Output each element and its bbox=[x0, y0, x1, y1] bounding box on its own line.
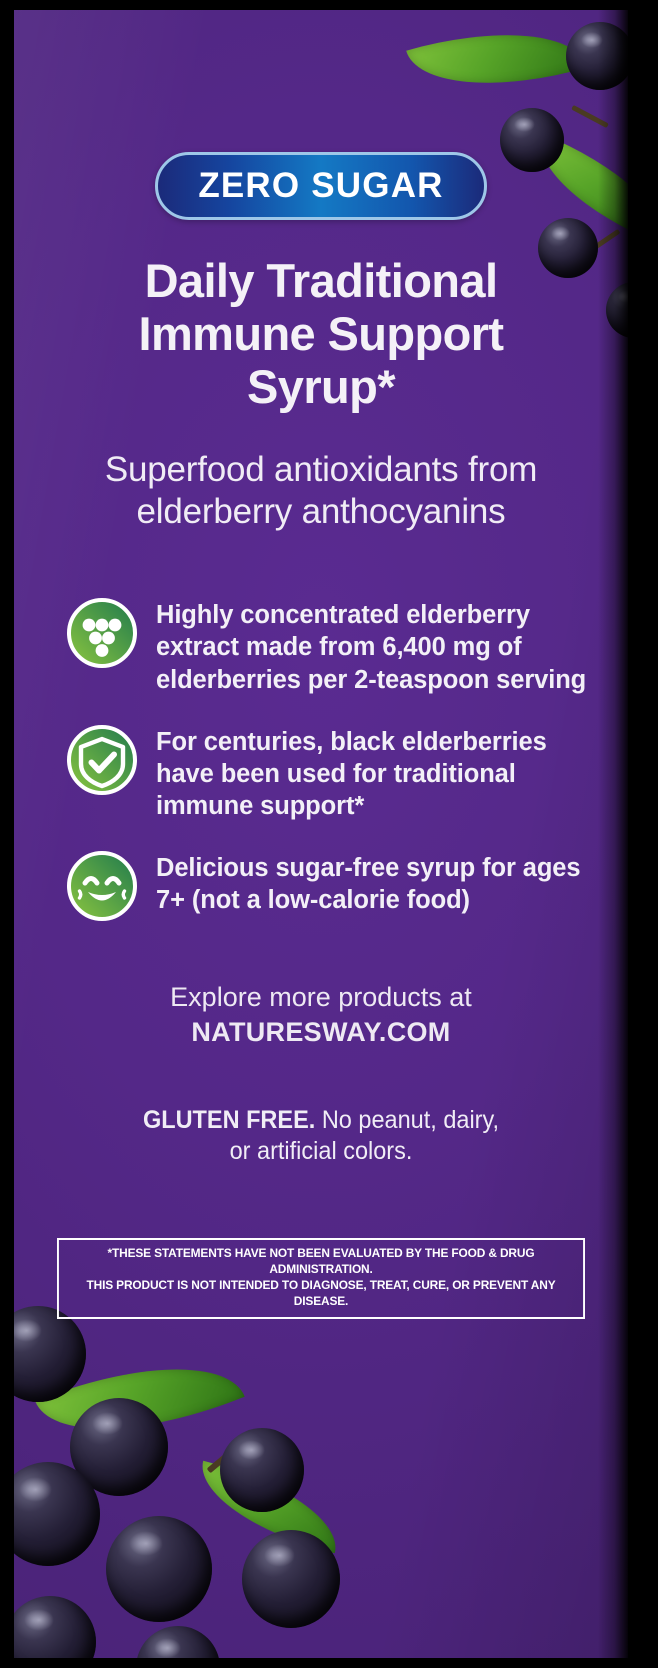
fda-disclaimer-box: *THESE STATEMENTS HAVE NOT BEEN EVALUATE… bbox=[57, 1238, 585, 1319]
package-front-panel: ZERO SUGAR Daily Traditional Immune Supp… bbox=[14, 10, 628, 1658]
allergen-rest: No peanut, dairy, bbox=[315, 1106, 499, 1134]
allergen-statement: GLUTEN FREE. No peanut, dairy, or artifi… bbox=[57, 1105, 585, 1168]
leaf-icon bbox=[189, 1461, 349, 1554]
disclaimer-line-2: THIS PRODUCT IS NOT INTENDED TO DIAGNOSE… bbox=[87, 1278, 556, 1308]
disclaimer-line-1: *THESE STATEMENTS HAVE NOT BEEN EVALUATE… bbox=[108, 1246, 535, 1276]
stem-icon bbox=[571, 105, 609, 128]
benefit-item: For centuries, black elderberries have b… bbox=[66, 722, 602, 822]
zero-sugar-badge: ZERO SUGAR bbox=[155, 152, 486, 220]
benefit-text: Highly concentrated elderberry extract m… bbox=[156, 595, 602, 695]
leaf-icon bbox=[406, 10, 588, 114]
berry-icon bbox=[566, 22, 628, 90]
berry-icon bbox=[14, 1462, 100, 1566]
smiley-face-icon bbox=[66, 850, 138, 922]
product-title-line-3: Syrup* bbox=[247, 360, 395, 413]
product-subtitle-line-2: elderberry anthocyanins bbox=[137, 492, 506, 531]
stem-icon bbox=[207, 1433, 254, 1474]
gluten-free-highlight: GLUTEN FREE. bbox=[143, 1106, 315, 1134]
benefits-list: Highly concentrated elderberry extract m… bbox=[40, 595, 602, 922]
explore-prompt: Explore more products at bbox=[170, 982, 472, 1012]
package-content: ZERO SUGAR Daily Traditional Immune Supp… bbox=[14, 152, 628, 1168]
benefit-text: For centuries, black elderberries have b… bbox=[156, 722, 602, 822]
zero-sugar-badge-wrap: ZERO SUGAR bbox=[40, 152, 602, 220]
benefit-item: Delicious sugar-free syrup for ages 7+ (… bbox=[66, 848, 602, 922]
product-package: ZERO SUGAR Daily Traditional Immune Supp… bbox=[0, 0, 658, 1668]
product-title-line-1: Daily Traditional bbox=[145, 254, 498, 307]
berry-icon bbox=[136, 1626, 220, 1658]
product-title-line-2: Immune Support bbox=[139, 307, 504, 360]
product-subtitle: Superfood antioxidants from elderberry a… bbox=[40, 449, 602, 533]
berry-icon bbox=[14, 1306, 86, 1402]
berry-icon bbox=[242, 1530, 340, 1628]
allergen-line-2: or artificial colors. bbox=[230, 1137, 413, 1165]
product-title: Daily Traditional Immune Support Syrup* bbox=[40, 254, 602, 413]
berry-icon bbox=[70, 1398, 168, 1496]
berry-icon bbox=[106, 1516, 212, 1622]
berry-icon bbox=[220, 1428, 304, 1512]
stem-icon bbox=[123, 1417, 156, 1473]
berry-cluster-icon bbox=[66, 597, 138, 669]
product-subtitle-line-1: Superfood antioxidants from bbox=[105, 450, 537, 489]
shield-check-icon bbox=[66, 724, 138, 796]
benefit-text: Delicious sugar-free syrup for ages 7+ (… bbox=[156, 848, 602, 916]
leaf-icon bbox=[35, 1328, 244, 1470]
website-link[interactable]: NATURESWAY.COM bbox=[40, 1015, 602, 1050]
berry-icon bbox=[14, 1596, 96, 1658]
explore-more-block: Explore more products at NATURESWAY.COM bbox=[40, 980, 602, 1049]
benefit-item: Highly concentrated elderberry extract m… bbox=[66, 595, 602, 695]
